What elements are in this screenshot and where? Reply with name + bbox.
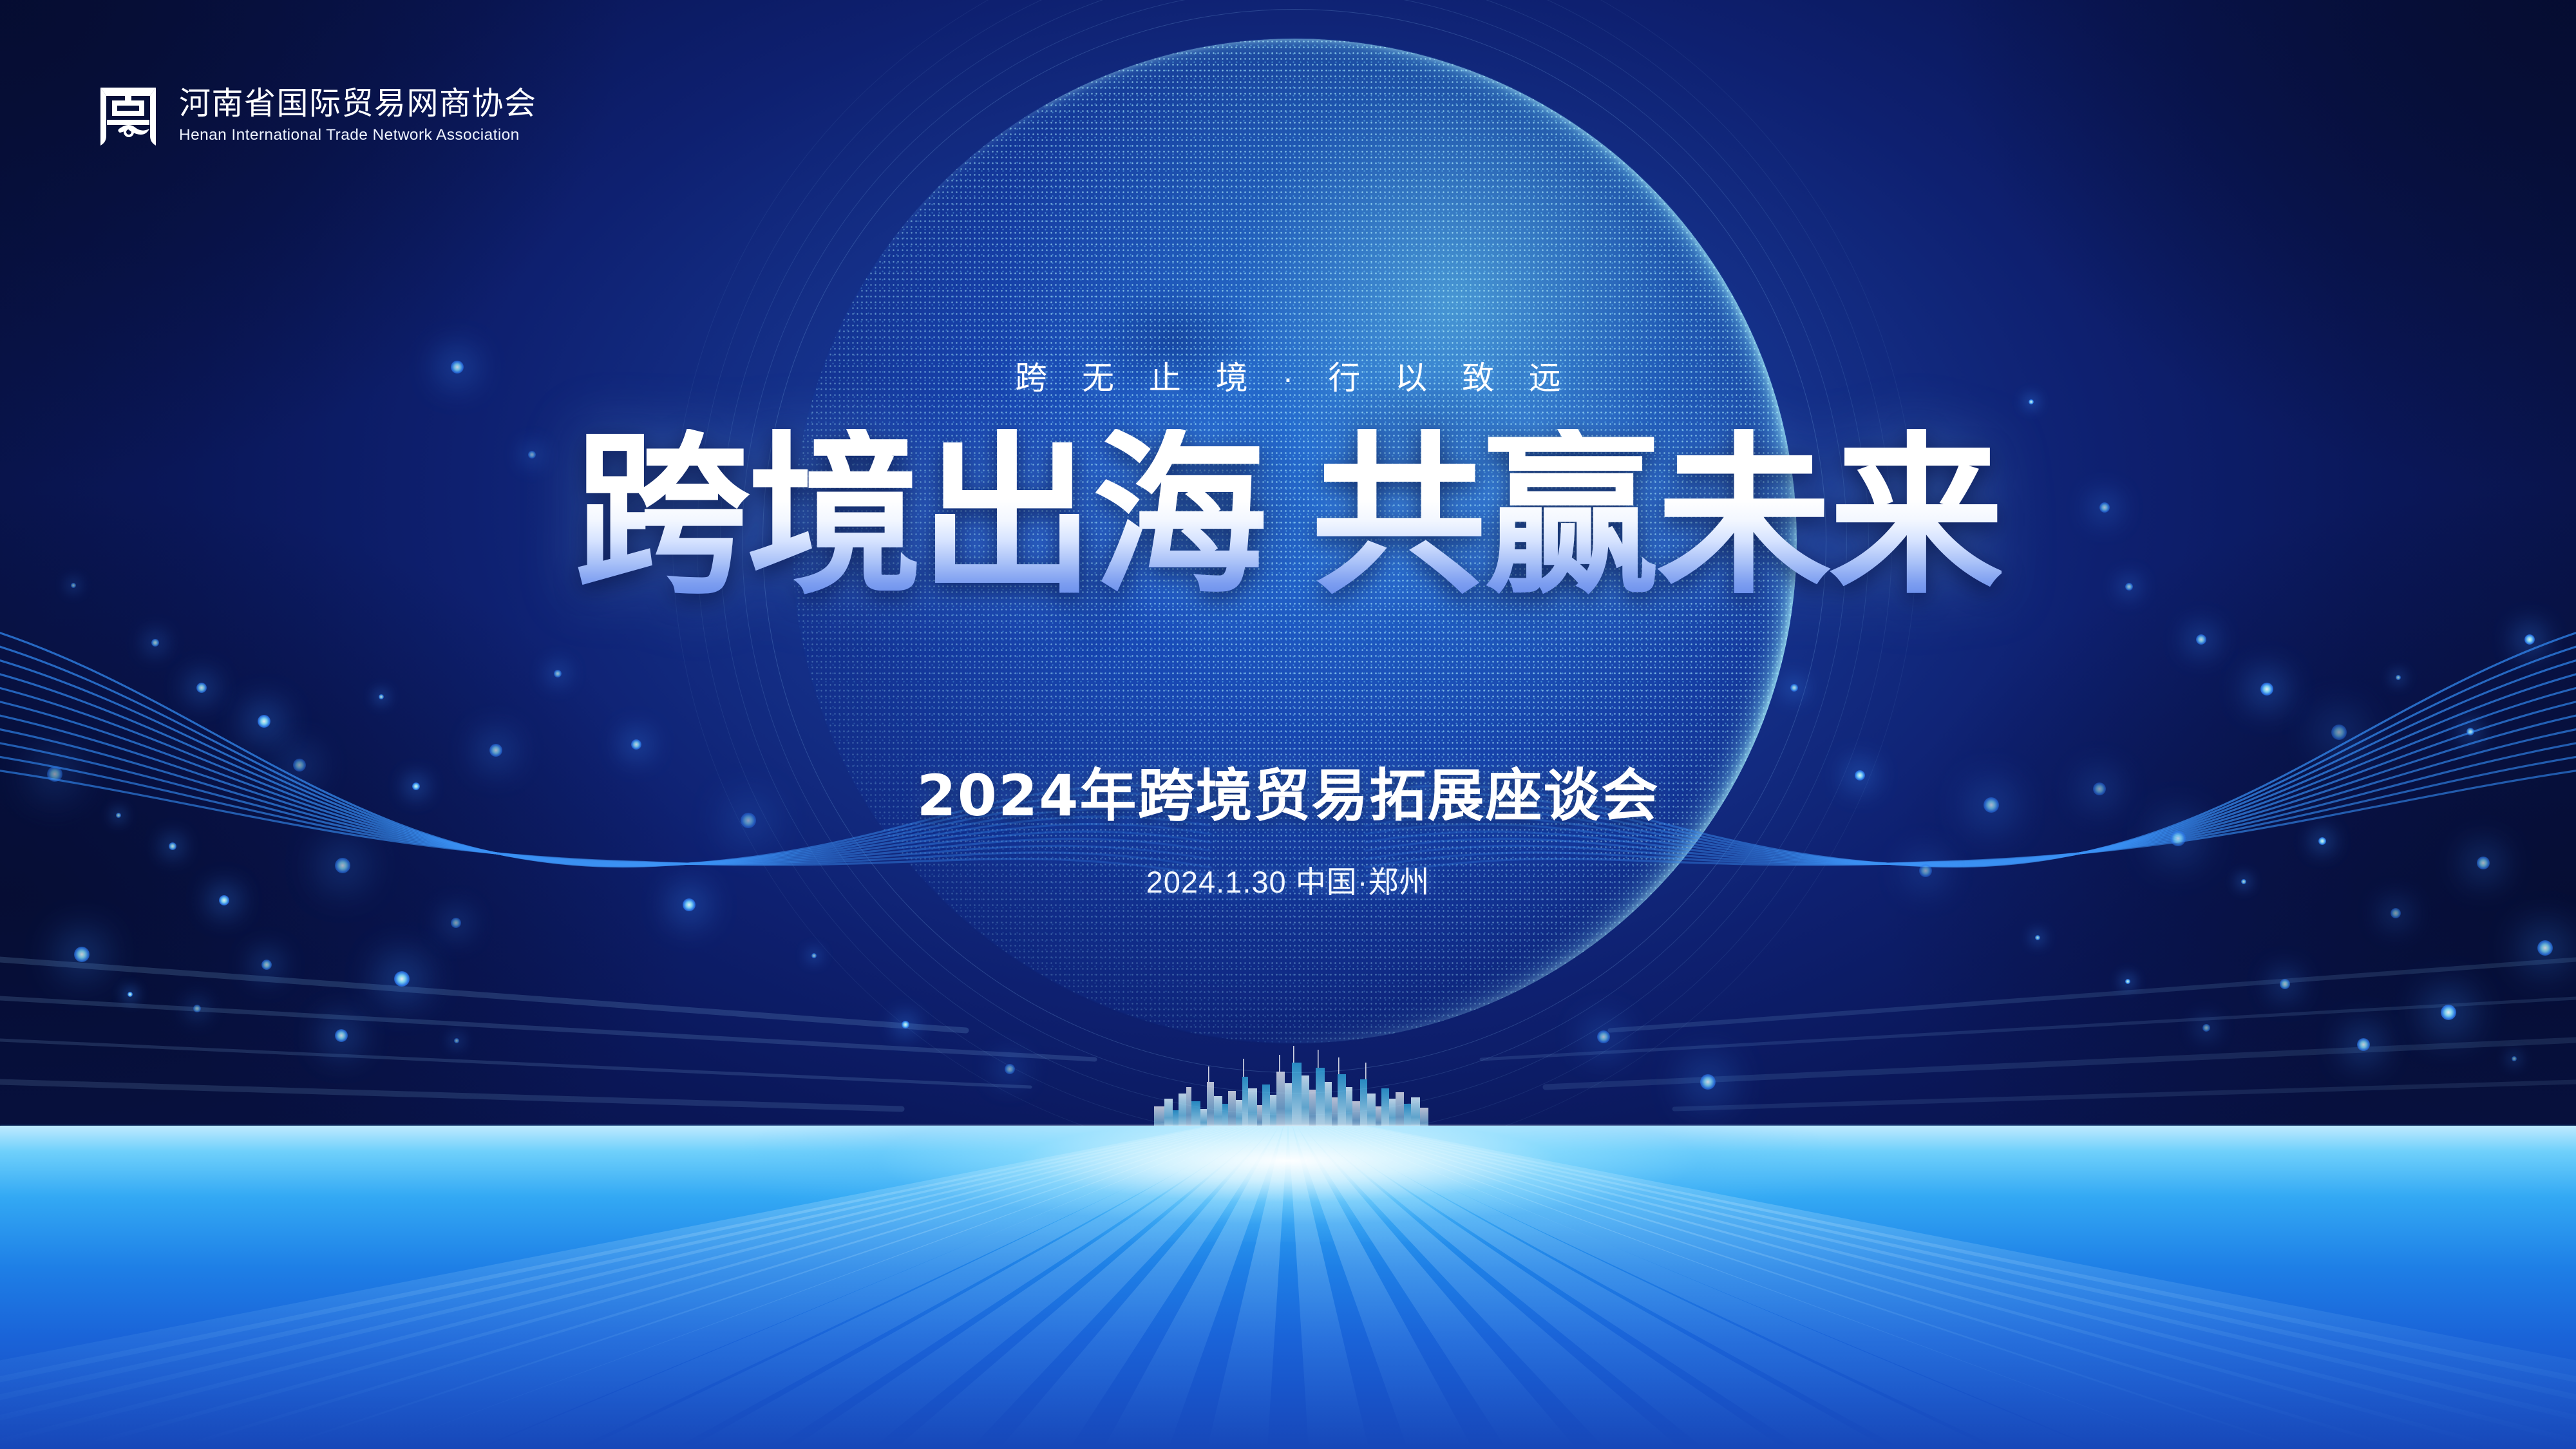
glow-particle [394, 971, 410, 987]
glow-particle [2467, 728, 2474, 735]
glow-particle [451, 918, 461, 928]
glow-particle [2391, 908, 2401, 918]
org-name-cn: 河南省国际贸易网商协会 [179, 88, 537, 121]
glow-particle [2280, 979, 2290, 989]
city-skyline-silhouette [1153, 1037, 1430, 1133]
glow-particle [2260, 683, 2273, 696]
event-subtitle: 2024年跨境贸易拓展座谈会 [0, 750, 2576, 832]
glow-particle [261, 960, 272, 970]
glow-particle [379, 694, 384, 699]
glow-particle [2524, 634, 2535, 645]
glow-particle [2537, 940, 2553, 956]
henan-seal-character-logo-icon [97, 82, 160, 151]
glow-particle [196, 683, 207, 693]
glow-particle [74, 947, 90, 962]
glow-particle [169, 842, 176, 850]
logo-text-block: 河南省国际贸易网商协会 Henan International Trade Ne… [179, 88, 537, 146]
glow-particle [2318, 837, 2326, 845]
org-name-en: Henan International Trade Network Associ… [179, 126, 537, 146]
glow-particle [454, 1038, 459, 1043]
glow-particle [2357, 1038, 2370, 1051]
glow-particle [2331, 724, 2347, 740]
glow-particle [2202, 1024, 2210, 1032]
glow-particle [2196, 634, 2206, 645]
headline-part-1: 跨境出海 [574, 429, 1265, 604]
horizon-light-burst [0, 1126, 2576, 1449]
event-date-location: 2024.1.30 中国·郑州 [0, 857, 2576, 902]
glow-particle [193, 1005, 201, 1012]
glow-particle [258, 715, 270, 728]
headline-part-2: 共赢未来 [1311, 429, 2002, 604]
glow-particle [1700, 1074, 1716, 1090]
glow-particle [2125, 979, 2130, 984]
glow-particle [2170, 831, 2186, 846]
glow-particle [335, 1029, 348, 1042]
page-title: 跨境出海共赢未来 [0, 429, 2576, 604]
glow-particle [631, 739, 641, 750]
glow-particle [2512, 1056, 2517, 1061]
glow-particle [2396, 675, 2401, 680]
glow-particle [2441, 1005, 2456, 1020]
glow-particle [128, 992, 133, 997]
light-floor [0, 1126, 2576, 1449]
association-logo[interactable]: 河南省国际贸易网商协会 Henan International Trade Ne… [97, 82, 537, 151]
event-banner: 河南省国际贸易网商协会 Henan International Trade Ne… [0, 0, 2576, 1449]
glow-particle [2029, 399, 2034, 404]
glow-particle [554, 670, 562, 677]
glow-particle [151, 639, 159, 647]
tagline: 跨 无 止 境 · 行 以 致 远 [0, 352, 2576, 399]
glow-particle [2035, 935, 2040, 940]
